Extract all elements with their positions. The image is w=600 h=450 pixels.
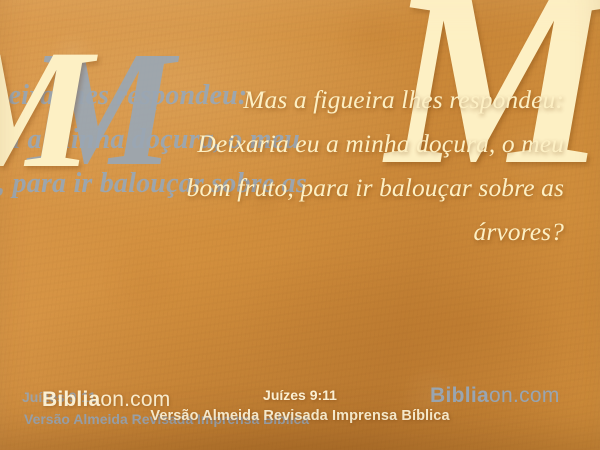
verse-quote-block: Mas a figueira lhes respondeu: Deixaria … xyxy=(20,78,564,254)
verse-image-canvas: M Mas a figueira lhes respondeu: Deixari… xyxy=(0,0,600,450)
verse-line: Deixaria eu a minha doçura, o meu xyxy=(20,122,564,166)
verse-reference: Juízes 9:11 xyxy=(0,387,600,403)
bible-version-label: Versão Almeida Revisada Imprensa Bíblica xyxy=(0,408,600,424)
verse-line: bom fruto, para ir balouçar sobre as xyxy=(20,166,564,210)
verse-line: Mas a figueira lhes respondeu: xyxy=(14,78,564,122)
verse-line: árvores? xyxy=(20,210,564,254)
foreground-text-layer: M M Mas a figueira lhes respondeu: Deixa… xyxy=(0,0,600,450)
